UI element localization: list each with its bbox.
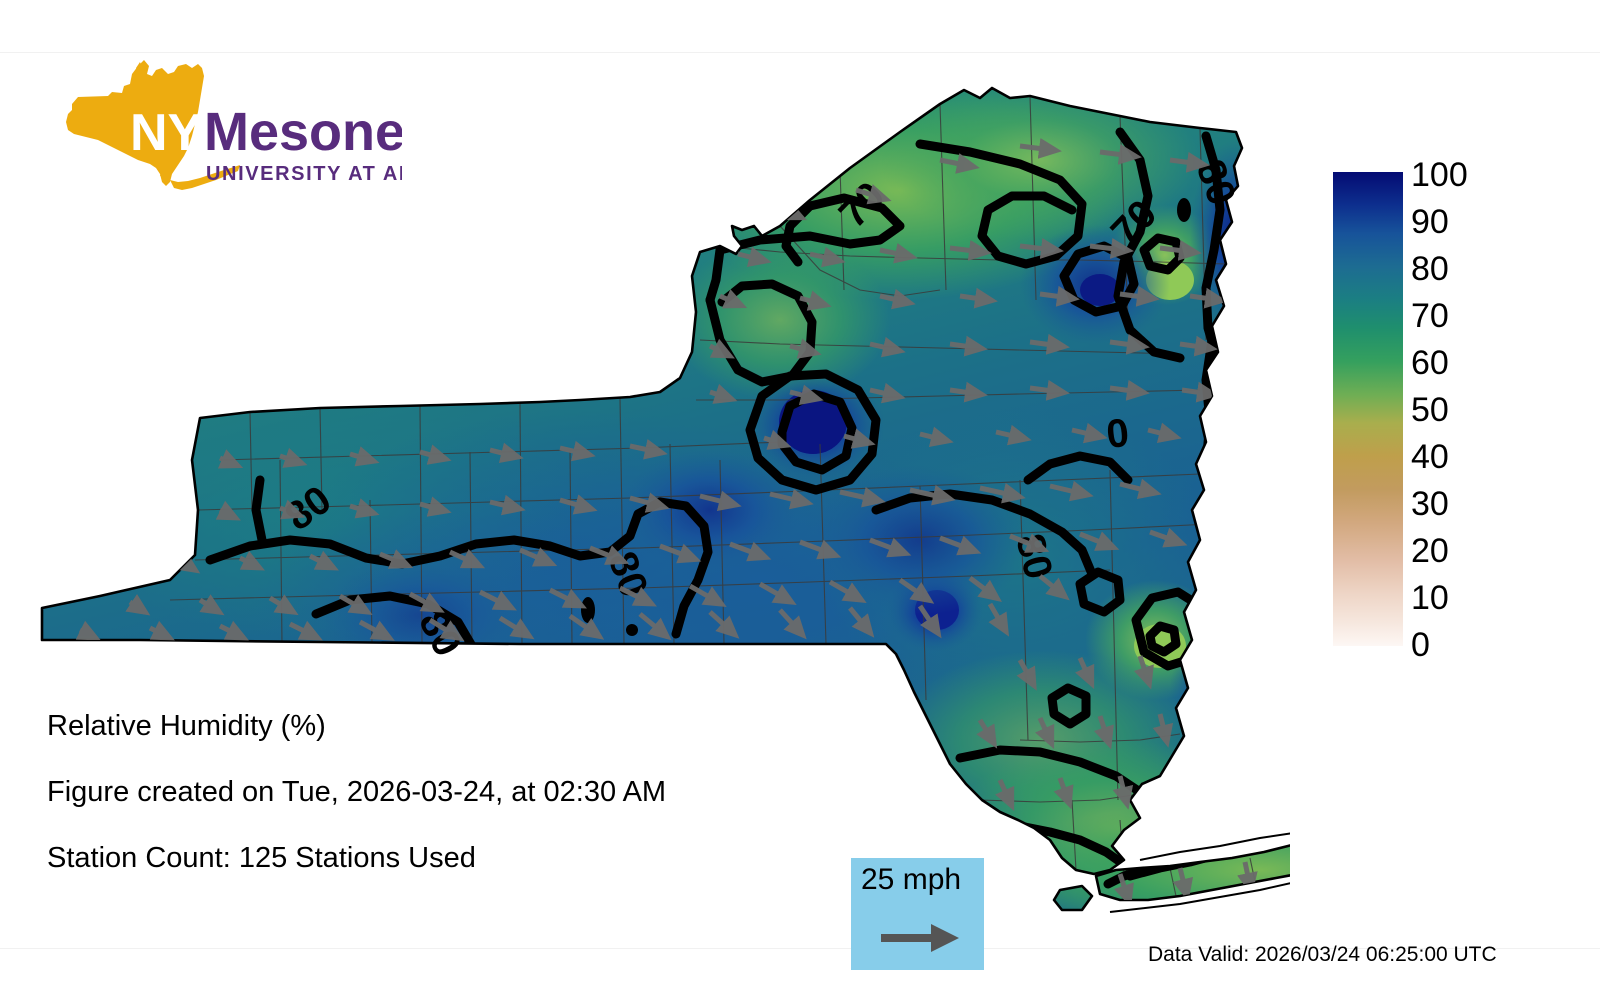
wind-arrow-icon: [879, 918, 963, 958]
colorbar-tick-20: 20: [1411, 534, 1501, 568]
colorbar: 100 90 80 70 60 50 40 30 20 10 0: [1333, 172, 1573, 650]
wind-key-label: 25 mph: [861, 864, 961, 896]
figure-created-line: Figure created on Tue, 2026-03-24, at 02…: [47, 778, 867, 807]
colorbar-tick-10: 10: [1411, 581, 1501, 615]
colorbar-tick-40: 40: [1411, 440, 1501, 474]
data-valid-timestamp: Data Valid: 2026/03/24 06:25:00 UTC: [1148, 944, 1497, 966]
variable-label: Relative Humidity (%): [47, 712, 867, 741]
colorbar-tick-100: 100: [1411, 158, 1501, 192]
svg-text:0: 0: [1104, 411, 1131, 457]
colorbar-tick-0: 0: [1411, 628, 1501, 662]
colorbar-tick-30: 30: [1411, 487, 1501, 521]
figure-caption: Relative Humidity (%) Figure created on …: [47, 712, 867, 910]
colorbar-gradient: [1333, 172, 1403, 646]
wind-speed-key: 25 mph: [851, 858, 984, 970]
station-count-line: Station Count: 125 Stations Used: [47, 844, 867, 873]
colorbar-tick-70: 70: [1411, 299, 1501, 333]
colorbar-tick-80: 80: [1411, 252, 1501, 286]
colorbar-tick-50: 50: [1411, 393, 1501, 427]
colorbar-tick-labels: 100 90 80 70 60 50 40 30 20 10 0: [1411, 158, 1561, 660]
colorbar-tick-60: 60: [1411, 346, 1501, 380]
colorbar-tick-90: 90: [1411, 205, 1501, 239]
